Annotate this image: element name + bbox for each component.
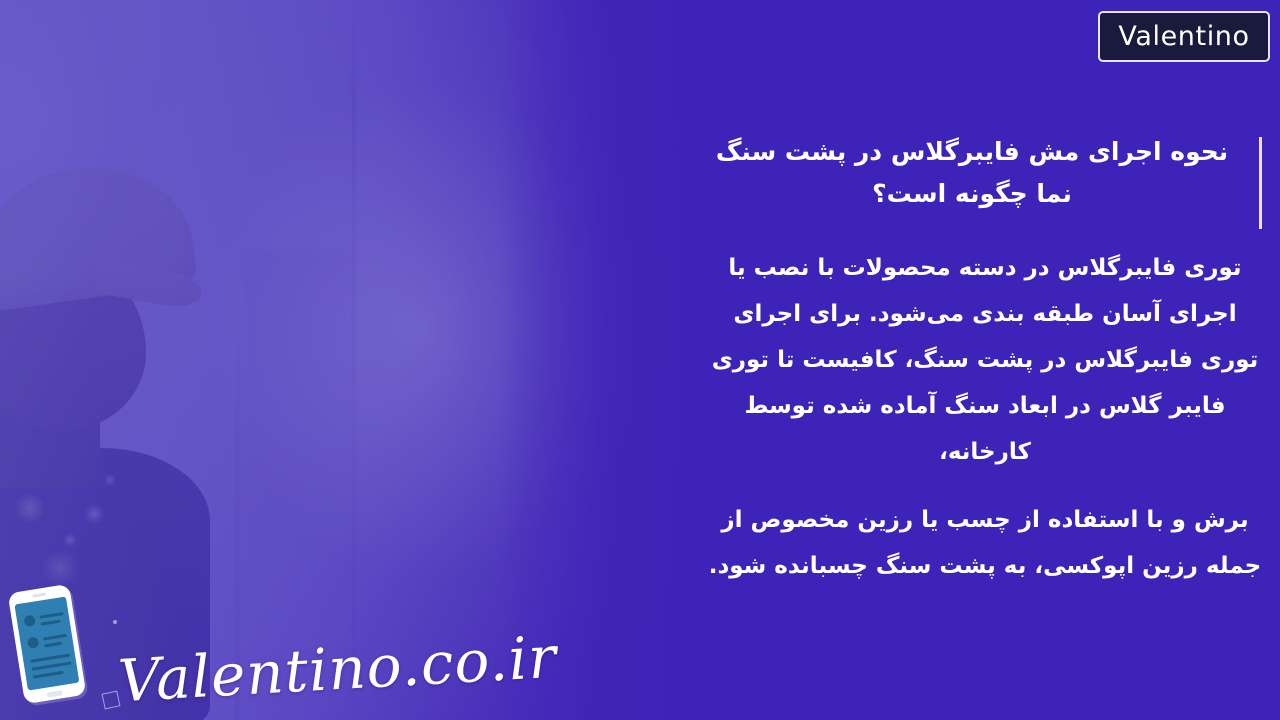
media-pane: Valentino.co.ir xyxy=(0,0,690,720)
decorative-square-icon xyxy=(102,691,121,710)
article-paragraph-2: برش و با استفاده از چسب یا رزین مخصوص از… xyxy=(708,497,1262,589)
brand-logo-text: Valentino xyxy=(1118,23,1249,50)
page-title: نحوه اجرای مش فایبرگلاس در پشت سنگ نما چ… xyxy=(708,131,1262,215)
article-content: نحوه اجرای مش فایبرگلاس در پشت سنگ نما چ… xyxy=(708,131,1262,589)
brand-logo-badge[interactable]: Valentino xyxy=(1098,11,1270,62)
watermark-text: Valentino.co.ir xyxy=(117,628,559,710)
slide-stage: Valentino.co.ir نحوه اجرای مش فایبرگلاس … xyxy=(0,0,1280,720)
page-title-text: نحوه اجرای مش فایبرگلاس در پشت سنگ نما چ… xyxy=(716,137,1228,208)
text-pane: نحوه اجرای مش فایبرگلاس در پشت سنگ نما چ… xyxy=(690,0,1280,720)
decorative-dot-icon xyxy=(113,620,117,624)
title-accent-rule xyxy=(1259,137,1262,229)
watermark: Valentino.co.ir xyxy=(0,560,560,720)
article-paragraph-1: توری فایبرگلاس در دسته محصولات با نصب یا… xyxy=(708,245,1262,475)
smartphone-icon xyxy=(8,584,87,704)
